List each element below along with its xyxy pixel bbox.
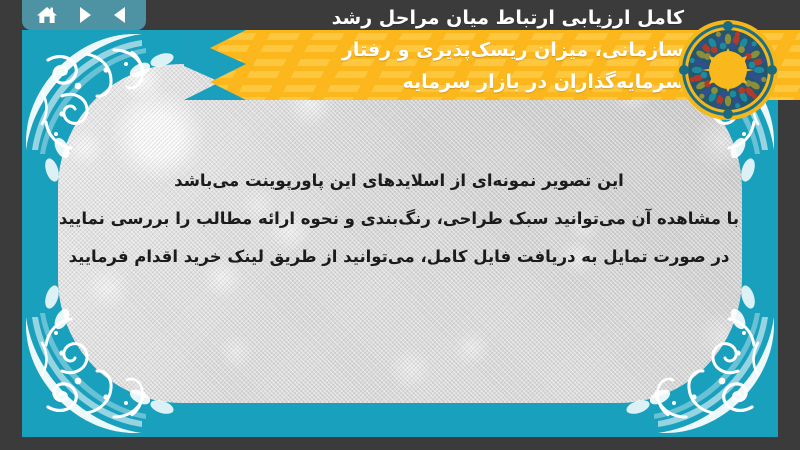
title-line-1: کامل ارزیابی ارتباط میان مراحل رشد [214, 2, 684, 34]
persian-medallion-ornament [676, 18, 780, 122]
slide-title: کامل ارزیابی ارتباط میان مراحل رشد سازما… [214, 2, 684, 98]
title-line-3: سرمایه‌گذاران در بازار سرمایه [214, 66, 684, 98]
navigation-toolbar [22, 0, 146, 30]
body-line-2: با مشاهده آن می‌توانید سبک طراحی، رنگ‌بن… [54, 200, 744, 238]
triangle-right-icon [74, 5, 94, 25]
slide-body-text: این تصویر نمونه‌ای از اسلایدهای این پاور… [54, 162, 744, 276]
triangle-left-icon [111, 5, 131, 25]
home-button[interactable] [32, 3, 62, 27]
next-slide-button[interactable] [69, 3, 99, 27]
previous-slide-button[interactable] [106, 3, 136, 27]
title-line-2: سازمانی، میزان ریسک‌پذیری و رفتار [214, 34, 684, 66]
slide-viewer: این تصویر نمونه‌ای از اسلایدهای این پاور… [0, 0, 800, 450]
body-line-1: این تصویر نمونه‌ای از اسلایدهای این پاور… [54, 162, 744, 200]
body-line-3: در صورت تمایل به دریافت فایل کامل، می‌تو… [54, 238, 744, 276]
home-icon [36, 5, 58, 25]
